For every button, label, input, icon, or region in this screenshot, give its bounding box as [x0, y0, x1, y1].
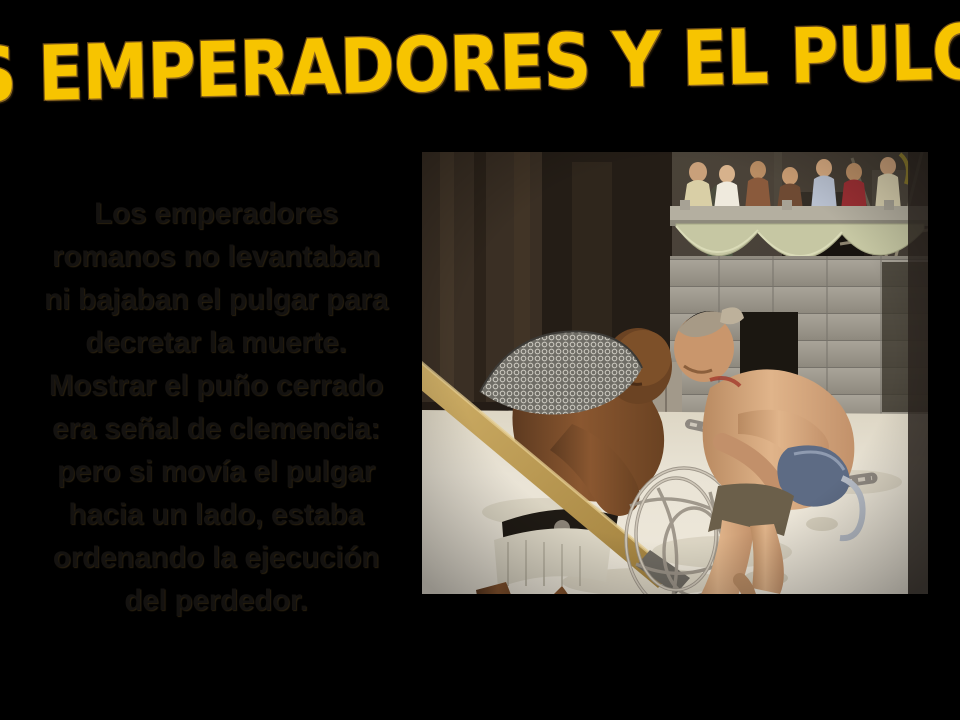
body-line: era señal de clemencia: — [14, 407, 418, 450]
body-line: ordenando la ejecución — [14, 536, 418, 579]
page-title: LOS EMPERADORES Y EL PULGAR — [0, 12, 960, 116]
body-line: romanos no levantaban — [14, 235, 418, 278]
body-line: ni bajaban el pulgar para — [14, 278, 418, 321]
body-paragraph: Los emperadores romanos no levantaban ni… — [14, 192, 418, 622]
body-line: decretar la muerte. — [14, 321, 418, 364]
body-line: Los emperadores — [14, 192, 418, 235]
body-line: del perdedor. — [14, 579, 418, 622]
gladiator-photo — [422, 152, 928, 594]
body-line: Mostrar el puño cerrado — [14, 364, 418, 407]
title-container: LOS EMPERADORES Y EL PULGAR — [0, 14, 960, 114]
gladiator-photo-illustration — [422, 152, 928, 594]
body-line: hacia un lado, estaba — [14, 493, 418, 536]
body-line: pero si movía el pulgar — [14, 450, 418, 493]
slide-canvas: LOS EMPERADORES Y EL PULGAR Los emperado… — [0, 0, 960, 720]
